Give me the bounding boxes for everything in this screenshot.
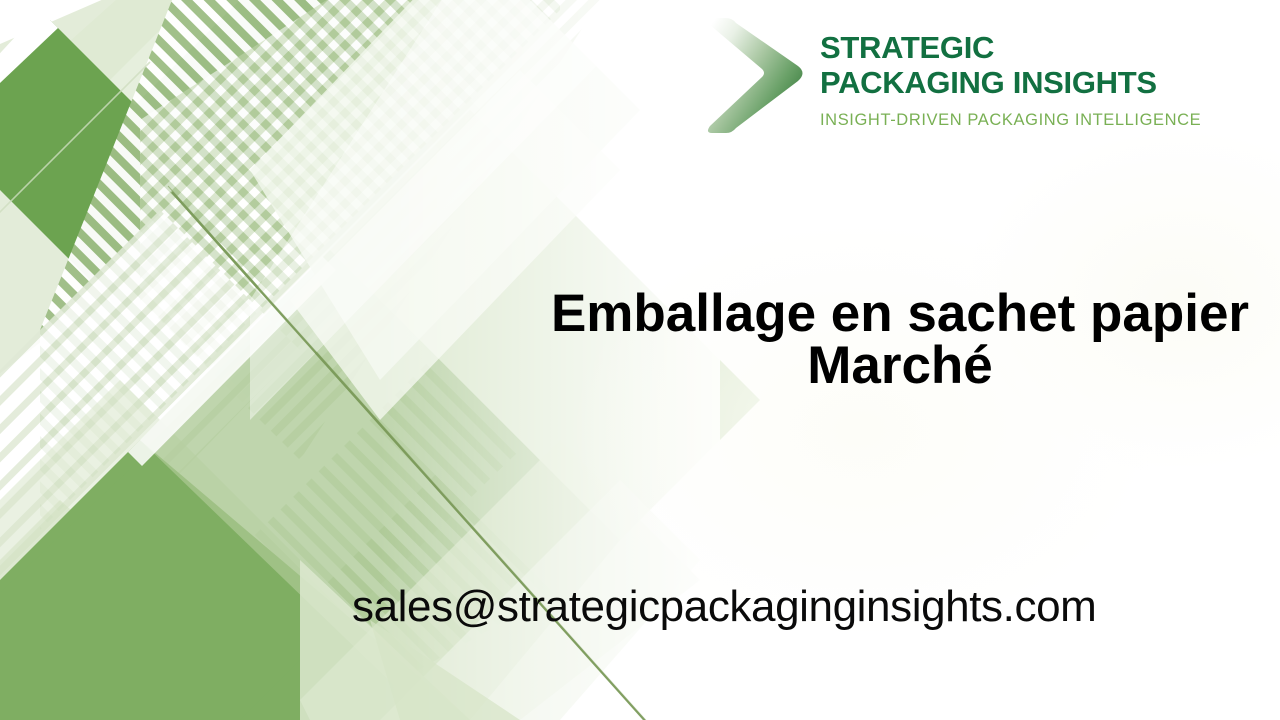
- chevron-arrow-mark: [706, 14, 810, 136]
- logo-line-1: STRATEGIC: [820, 30, 1201, 65]
- presentation-slide: STRATEGIC PACKAGING INSIGHTS INSIGHT-DRI…: [0, 0, 1280, 720]
- logo-tagline: INSIGHT-DRIVEN PACKAGING INTELLIGENCE: [820, 111, 1201, 129]
- logo-line-2: PACKAGING INSIGHTS: [820, 65, 1201, 100]
- page-title: Emballage en sachet papier Marché: [520, 288, 1280, 392]
- company-logo: STRATEGIC PACKAGING INSIGHTS INSIGHT-DRI…: [706, 14, 1222, 142]
- logo-wordmark: STRATEGIC PACKAGING INSIGHTS INSIGHT-DRI…: [820, 14, 1201, 129]
- contact-email[interactable]: sales@strategicpackaginginsights.com: [352, 580, 1096, 634]
